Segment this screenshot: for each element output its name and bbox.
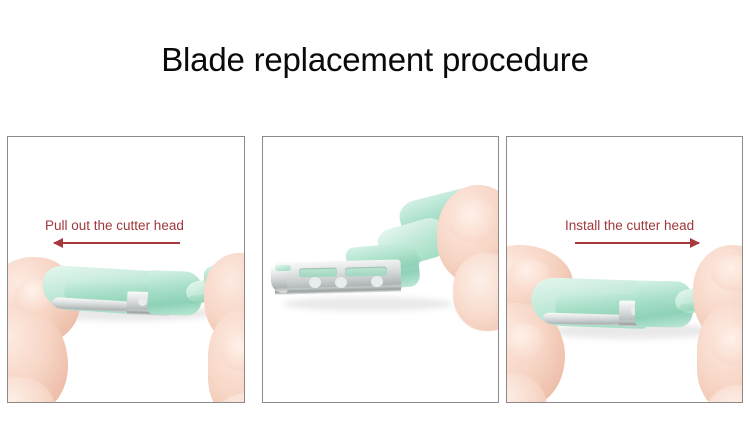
step-panel-3: Install the cutter head [506,136,743,403]
blade-notch-2 [335,277,347,288]
blade-slot-left [299,268,337,278]
step-2-photo [263,137,498,402]
arrow-head [53,238,63,248]
page-title: Blade replacement procedure [0,40,750,80]
blade-slot-right [345,266,387,276]
step-3-caption: Install the cutter head [565,218,694,234]
step-1-photo: Pull out the cutter head [8,137,244,402]
blade-notch-3 [371,276,383,287]
step-panel-1: Pull out the cutter head [7,136,245,403]
blade-notch-1 [309,277,321,288]
hand-knuckle [453,253,498,331]
step-1-caption: Pull out the cutter head [45,218,184,234]
arrow-shaft [575,242,699,244]
arrow-right-icon [575,237,699,248]
blade-replacement-infographic: Blade replacement procedure [0,0,750,425]
arrow-shaft [54,242,180,244]
arrow-left-icon [54,237,180,248]
arrow-head [690,238,700,248]
thumbnail [449,199,497,243]
step-3-photo: Install the cutter head [507,137,742,402]
tool-shadow [283,297,453,311]
blade-notch-left [138,297,147,306]
step-panels-row: Pull out the cutter head [0,136,750,406]
blade-mount-tab [275,265,291,272]
step-panel-2 [262,136,499,403]
